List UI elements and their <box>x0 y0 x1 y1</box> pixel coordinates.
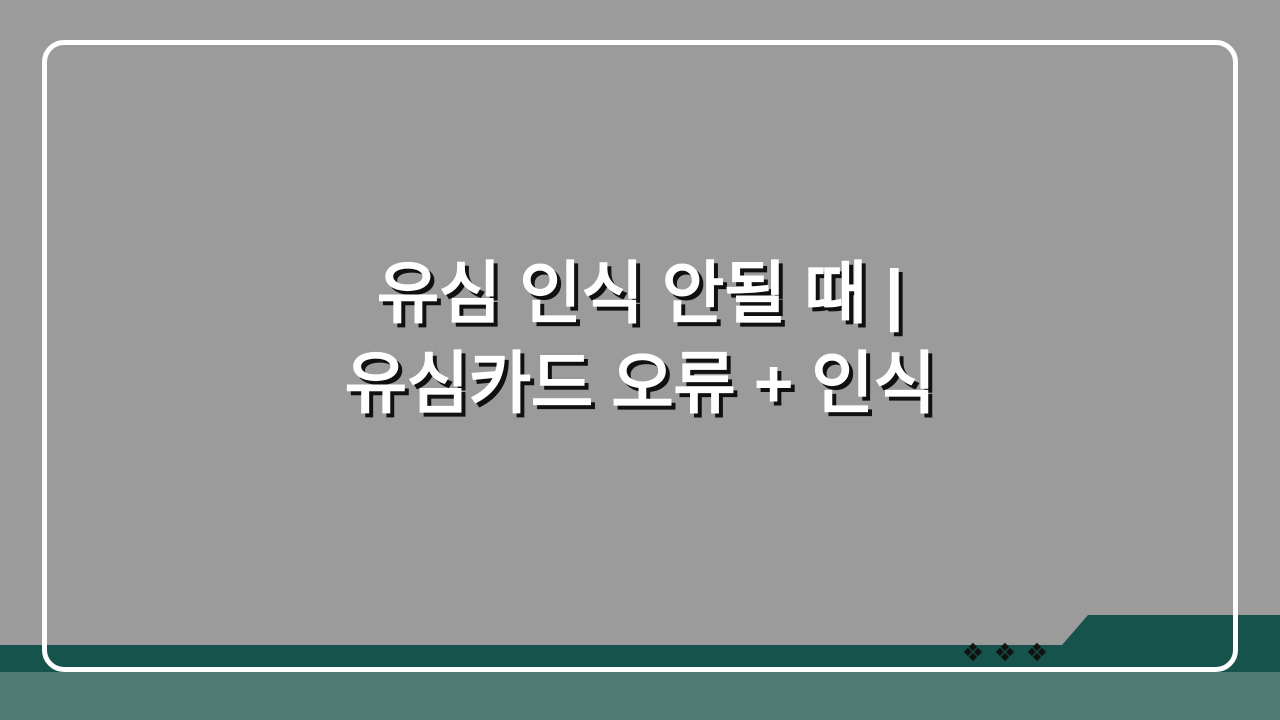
pin-diamond-3-icon: ❖ <box>1024 641 1050 666</box>
page-title: 유심 인식 안될 때 | 유심카드 오류 + 인식 <box>340 250 940 430</box>
pin-diamond-1-icon: ❖ <box>960 641 986 666</box>
pin-glyph-row: ❖ ❖ ❖ <box>960 636 1070 670</box>
footer-strip <box>0 672 1280 720</box>
pin-diamond-2-icon: ❖ <box>992 641 1018 666</box>
thumbnail-canvas: 유심 인식 안될 때 | 유심카드 오류 + 인식 ❖ ❖ ❖ <box>0 0 1280 720</box>
title-block: 유심 인식 안될 때 | 유심카드 오류 + 인식 <box>42 40 1238 640</box>
